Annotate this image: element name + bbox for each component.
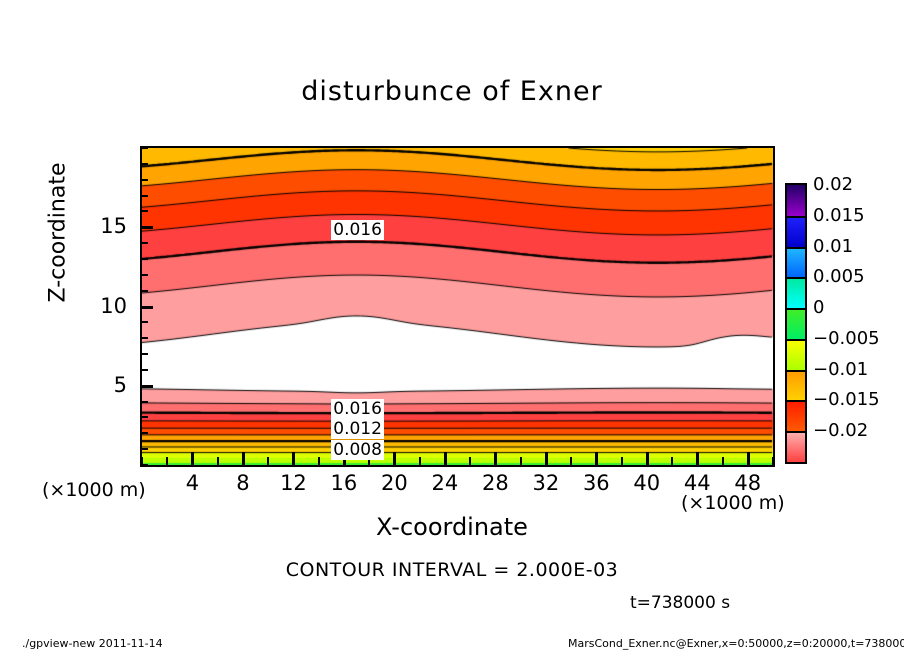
colorbar-tick-label: 0: [813, 299, 824, 317]
y-axis-tick: [140, 147, 148, 149]
colorbar-tick-label: 0.02: [813, 176, 853, 194]
y-axis-tick: [140, 163, 148, 165]
y-axis-tick: [140, 337, 148, 339]
y-axis-unit-label: (×1000 m): [42, 479, 146, 501]
contour-line-label: 0.016: [331, 220, 384, 240]
colorbar: [785, 183, 807, 464]
colorbar-band: [787, 431, 805, 462]
x-axis-tick: [520, 457, 522, 465]
y-axis-tick-label: 15: [82, 216, 127, 237]
x-axis-tick: [671, 457, 673, 465]
colorbar-tick-label: 0.01: [813, 238, 853, 256]
y-axis-tick: [140, 179, 148, 181]
colorbar-band-divider: [787, 339, 805, 341]
y-axis-tick: [140, 432, 148, 434]
colorbar-tick-label: −0.005: [813, 330, 880, 348]
y-axis-tick: [140, 416, 148, 418]
x-axis-tick: [545, 452, 548, 465]
colorbar-tick-label: −0.01: [813, 361, 868, 379]
colorbar-band: [787, 308, 805, 339]
y-axis-tick: [140, 210, 148, 212]
colorbar-band: [787, 216, 805, 247]
colorbar-band: [787, 400, 805, 431]
x-axis-tick: [242, 452, 245, 465]
x-axis-tick: [570, 457, 572, 465]
time-label: t=738000 s: [630, 593, 730, 613]
x-axis-tick: [646, 452, 649, 465]
colorbar-band-divider: [787, 247, 805, 249]
x-axis-title: X-coordinate: [0, 513, 904, 541]
colorbar-band-divider: [787, 370, 805, 372]
x-axis-tick: [141, 457, 143, 465]
colorbar-band: [787, 247, 805, 278]
y-axis-tick: [140, 306, 153, 309]
y-axis-tick: [140, 401, 148, 403]
colorbar-band: [787, 339, 805, 370]
y-axis-tick: [140, 369, 148, 371]
y-axis-tick: [140, 290, 148, 292]
y-axis-tick: [140, 448, 148, 450]
y-axis-tick: [140, 258, 148, 260]
colorbar-band-divider: [787, 431, 805, 433]
x-axis-tick: [267, 457, 269, 465]
colorbar-tick-label: 0.015: [813, 207, 865, 225]
y-axis-tick: [140, 385, 153, 388]
colorbar-tick-label: 0.005: [813, 268, 865, 286]
x-axis-tick: [393, 452, 396, 465]
contour-line-label: 0.016: [331, 399, 384, 419]
y-axis-tick: [140, 274, 148, 276]
x-axis-tick: [469, 457, 471, 465]
colorbar-tick-label: −0.015: [813, 391, 880, 409]
colorbar-band-divider: [787, 216, 805, 218]
contour-field-canvas: [142, 148, 773, 465]
colorbar-band-divider: [787, 277, 805, 279]
y-axis-tick: [140, 321, 148, 323]
x-axis-tick: [595, 452, 598, 465]
contour-line-label: 0.012: [331, 419, 384, 439]
y-axis-tick: [140, 353, 148, 355]
colorbar-band-divider: [787, 400, 805, 402]
contour-interval-note: CONTOUR INTERVAL = 2.000E-03: [0, 559, 904, 581]
y-axis-tick: [140, 226, 153, 229]
y-axis-tick: [140, 242, 148, 244]
footer-dataset: MarsCond_Exner.nc@Exner,x=0:50000,z=0:20…: [568, 637, 904, 650]
colorbar-band: [787, 370, 805, 401]
y-axis-tick: [140, 195, 148, 197]
x-axis-tick: [166, 457, 168, 465]
x-axis-tick: [217, 457, 219, 465]
y-axis-tick-label: 10: [82, 296, 127, 317]
colorbar-band: [787, 185, 805, 216]
x-axis-tick: [444, 452, 447, 465]
x-axis-tick: [621, 457, 623, 465]
x-axis-tick: [722, 457, 724, 465]
footer-command: ./gpview-new 2011-11-14: [22, 637, 163, 650]
contour-line-label: 0.008: [331, 440, 384, 460]
x-axis-tick-label: 48: [718, 473, 778, 494]
page-title: disturbunce of Exner: [0, 76, 904, 107]
colorbar-tick-label: −0.02: [813, 422, 868, 440]
colorbar-band-divider: [787, 308, 805, 310]
x-axis-tick: [318, 457, 320, 465]
x-axis-tick: [292, 452, 295, 465]
x-axis-tick: [747, 452, 750, 465]
colorbar-band: [787, 277, 805, 308]
y-axis-title: Z-coordinate: [46, 133, 71, 333]
y-axis-tick-label: 5: [82, 375, 127, 396]
x-axis-tick: [494, 452, 497, 465]
x-axis-tick: [696, 452, 699, 465]
x-axis-tick: [772, 457, 774, 465]
x-axis-tick: [191, 452, 194, 465]
x-axis-unit-label: (×1000 m): [681, 492, 785, 514]
x-axis-tick: [419, 457, 421, 465]
contour-plot-area: [140, 146, 775, 467]
